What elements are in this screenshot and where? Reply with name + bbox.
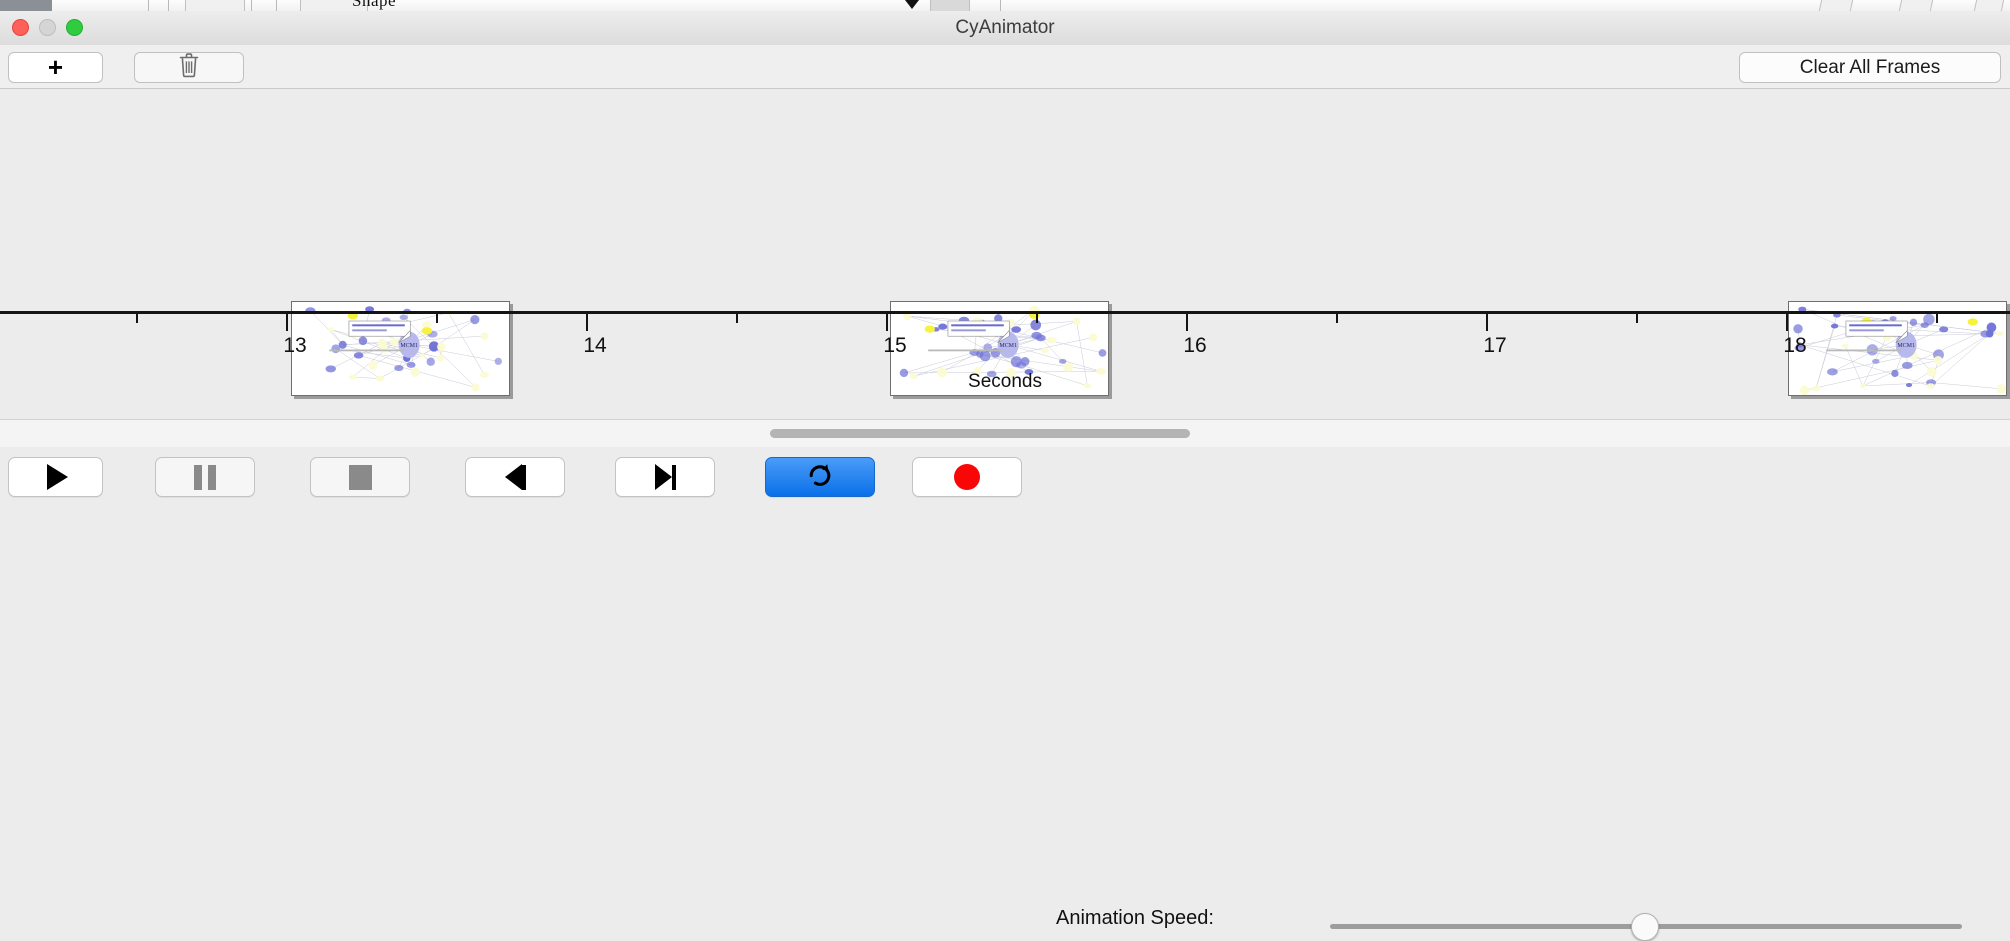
axis-tick-minor: [736, 314, 738, 323]
axis-tick-minor: [1336, 314, 1338, 323]
axis-tick-label: 16: [1183, 334, 1206, 358]
svg-text:MCM1: MCM1: [400, 343, 418, 349]
svg-text:MCM1: MCM1: [1897, 343, 1915, 349]
scrollbar-thumb[interactable]: [770, 429, 1190, 438]
background-block: [185, 0, 245, 11]
stop-button[interactable]: [310, 457, 410, 497]
background-block: [930, 0, 970, 11]
background-divider: [276, 0, 277, 11]
background-block: [1899, 0, 1933, 11]
clear-all-frames-button[interactable]: Clear All Frames: [1739, 52, 2001, 83]
clear-all-frames-label: Clear All Frames: [1800, 57, 1940, 79]
axis-tick-label: 14: [583, 334, 606, 358]
background-window-strip: Shape: [0, 0, 2010, 11]
play-button[interactable]: [8, 457, 103, 497]
background-cursor-arrow: [905, 0, 919, 9]
axis-tick-label: 17: [1483, 334, 1506, 358]
axis-tick-minor: [1036, 314, 1038, 323]
axis-tick-minor: [436, 314, 438, 323]
close-button[interactable]: [12, 19, 29, 36]
axis-tick-major: [586, 314, 588, 331]
axis-tick-label: 2: [0, 334, 1, 358]
timeline-panel[interactable]: MCM1MCM1MCM1 2131415161718 Seconds: [0, 89, 2010, 419]
background-divider: [168, 0, 169, 11]
window-title: CyAnimator: [0, 11, 2010, 45]
background-divider: [1000, 0, 1001, 11]
axis-tick-minor: [1936, 314, 1938, 323]
background-block: [1974, 0, 2004, 11]
titlebar: CyAnimator: [0, 11, 2010, 46]
background-block: [1819, 0, 1853, 11]
axis-tick-label: 18: [1783, 334, 1806, 358]
skip-next-button[interactable]: [615, 457, 715, 497]
animation-speed-label: Animation Speed:: [1056, 907, 1214, 930]
animation-speed-slider-thumb[interactable]: [1631, 913, 1659, 941]
stop-icon: [349, 465, 372, 490]
play-icon: [47, 464, 68, 490]
axis-tick-major: [1486, 314, 1488, 331]
pause-icon: [194, 465, 216, 490]
zoom-button[interactable]: [66, 19, 83, 36]
skip-previous-button[interactable]: [465, 457, 565, 497]
axis-tick-major: [286, 314, 288, 331]
record-icon: [954, 464, 980, 490]
record-button[interactable]: [912, 457, 1022, 497]
axis-tick-label: 15: [883, 334, 906, 358]
loop-button[interactable]: [765, 457, 875, 497]
axis-tick-major: [886, 314, 888, 331]
axis-tick-label: 13: [283, 334, 306, 358]
svg-text:MCM1: MCM1: [999, 343, 1017, 349]
axis-tick-minor: [136, 314, 138, 323]
axis-tick-minor: [1636, 314, 1638, 323]
loop-icon: [806, 461, 834, 494]
timeline-scrollbar[interactable]: [0, 419, 2010, 449]
traffic-lights: [12, 19, 83, 36]
minimize-button[interactable]: [39, 19, 56, 36]
playback-control-bar: Animation Speed:: [0, 447, 2010, 510]
background-divider: [148, 0, 149, 11]
background-window-label: Shape: [352, 0, 396, 11]
pause-button[interactable]: [155, 457, 255, 497]
timeline-axis: [0, 311, 2010, 314]
axis-tick-major: [1186, 314, 1188, 331]
axis-title: Seconds: [0, 371, 2010, 393]
delete-frame-button[interactable]: [134, 52, 244, 83]
background-divider: [251, 0, 252, 11]
plus-icon: +: [48, 54, 63, 80]
skip-next-icon: [655, 464, 676, 490]
skip-previous-icon: [505, 464, 526, 490]
cyanimator-window: Shape CyAnimator +: [0, 0, 2010, 510]
axis-tick-major: [1786, 314, 1788, 331]
toolbar: + Clear All Frames: [0, 45, 2010, 89]
trash-icon: [178, 52, 200, 83]
add-frame-button[interactable]: +: [8, 52, 103, 83]
background-tab: [0, 0, 52, 11]
